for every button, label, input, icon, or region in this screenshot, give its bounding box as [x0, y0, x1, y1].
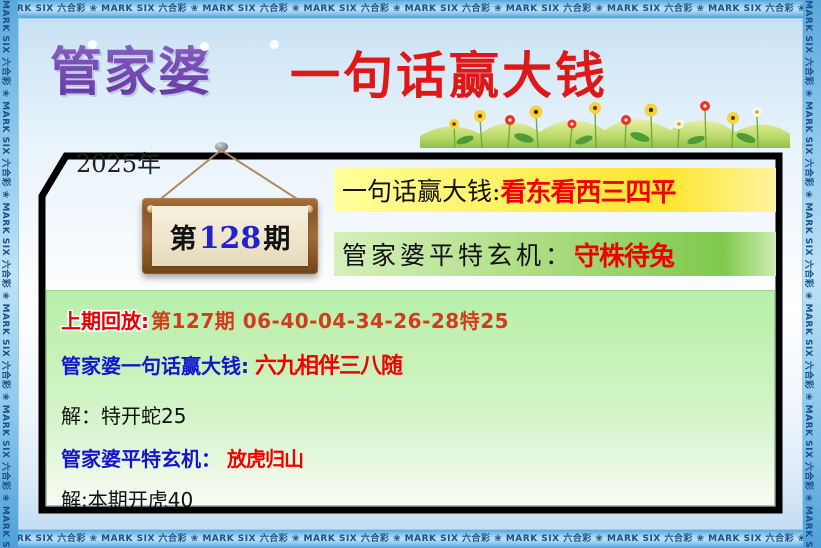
- replay-numbers: 第127期 06-40-04-34-26-28特25: [149, 305, 509, 334]
- banner-green-value: 守株待兔: [574, 236, 674, 273]
- border-pattern-text-bottom: MARK SIX 六合彩 ❀ MARK SIX 六合彩 ❀ MARK SIX 六…: [0, 530, 821, 548]
- result-row-2: 解：特开蛇25: [61, 400, 760, 429]
- replay-tag: 上期回放:: [61, 305, 149, 334]
- result-row-2-label: 解：特开蛇25: [61, 400, 186, 429]
- content-box: 上期回放: 第127期 06-40-04-34-26-28特25 管家婆一句话赢…: [46, 290, 775, 506]
- banner-row-green: 管家婆平特玄机： 守株待兔: [334, 232, 776, 276]
- result-row-1-value: 六九相伴三八随: [249, 348, 402, 380]
- result-row-3-value: 放虎归山: [221, 443, 303, 472]
- result-row-3-label: 管家婆平特玄机：: [61, 443, 221, 472]
- issue-number: 128: [197, 221, 264, 256]
- border-pattern-text-right: MARK SIX 六合彩 ❀ MARK SIX 六合彩 ❀ MARK SIX 六…: [803, 0, 817, 548]
- sign-paper: 第128期: [152, 206, 308, 266]
- border-strip-top: MARK SIX 六合彩 ❀ MARK SIX 六合彩 ❀ MARK SIX 六…: [0, 0, 821, 18]
- result-row-4: 解:本期开虎40: [61, 484, 760, 513]
- page-root: MARK SIX 六合彩 ❀ MARK SIX 六合彩 ❀ MARK SIX 六…: [0, 0, 821, 548]
- border-pattern-text-top: MARK SIX 六合彩 ❀ MARK SIX 六合彩 ❀ MARK SIX 六…: [0, 0, 821, 18]
- issue-number-text: 第128期: [170, 217, 291, 256]
- banner-yellow-value: 看东看西三四平: [500, 172, 675, 209]
- page-title: 一句话赢大钱: [290, 36, 608, 108]
- banner-row-yellow: 一句话赢大钱: 看东看西三四平: [334, 168, 776, 212]
- issue-suffix: 期: [263, 224, 290, 255]
- replay-row: 上期回放: 第127期 06-40-04-34-26-28特25: [61, 305, 760, 334]
- result-row-1: 管家婆一句话赢大钱: 六九相伴三八随: [61, 348, 760, 380]
- banner-green-label: 管家婆平特玄机：: [342, 236, 574, 272]
- border-strip-left: MARK SIX 六合彩 ❀ MARK SIX 六合彩 ❀ MARK SIX 六…: [0, 0, 18, 548]
- result-row-1-label: 管家婆一句话赢大钱:: [61, 350, 249, 379]
- result-row-3: 管家婆平特玄机： 放虎归山: [61, 443, 760, 472]
- border-pattern-text-left: MARK SIX 六合彩 ❀ MARK SIX 六合彩 ❀ MARK SIX 六…: [0, 0, 14, 548]
- border-strip-bottom: MARK SIX 六合彩 ❀ MARK SIX 六合彩 ❀ MARK SIX 六…: [0, 530, 821, 548]
- brand-logo: 管家婆: [50, 30, 212, 105]
- banner-yellow-label: 一句话赢大钱:: [342, 172, 500, 208]
- result-row-4-label: 解:本期开虎40: [61, 484, 193, 513]
- hanging-sign: 第128期: [100, 146, 360, 291]
- sign-board: 第128期: [142, 198, 318, 274]
- main-panel: 2025年 第128期 一句话赢大钱: 看东看西三四平 管家婆平特玄机：: [36, 150, 785, 516]
- border-strip-right: MARK SIX 六合彩 ❀ MARK SIX 六合彩 ❀ MARK SIX 六…: [803, 0, 821, 548]
- issue-prefix: 第: [170, 224, 197, 255]
